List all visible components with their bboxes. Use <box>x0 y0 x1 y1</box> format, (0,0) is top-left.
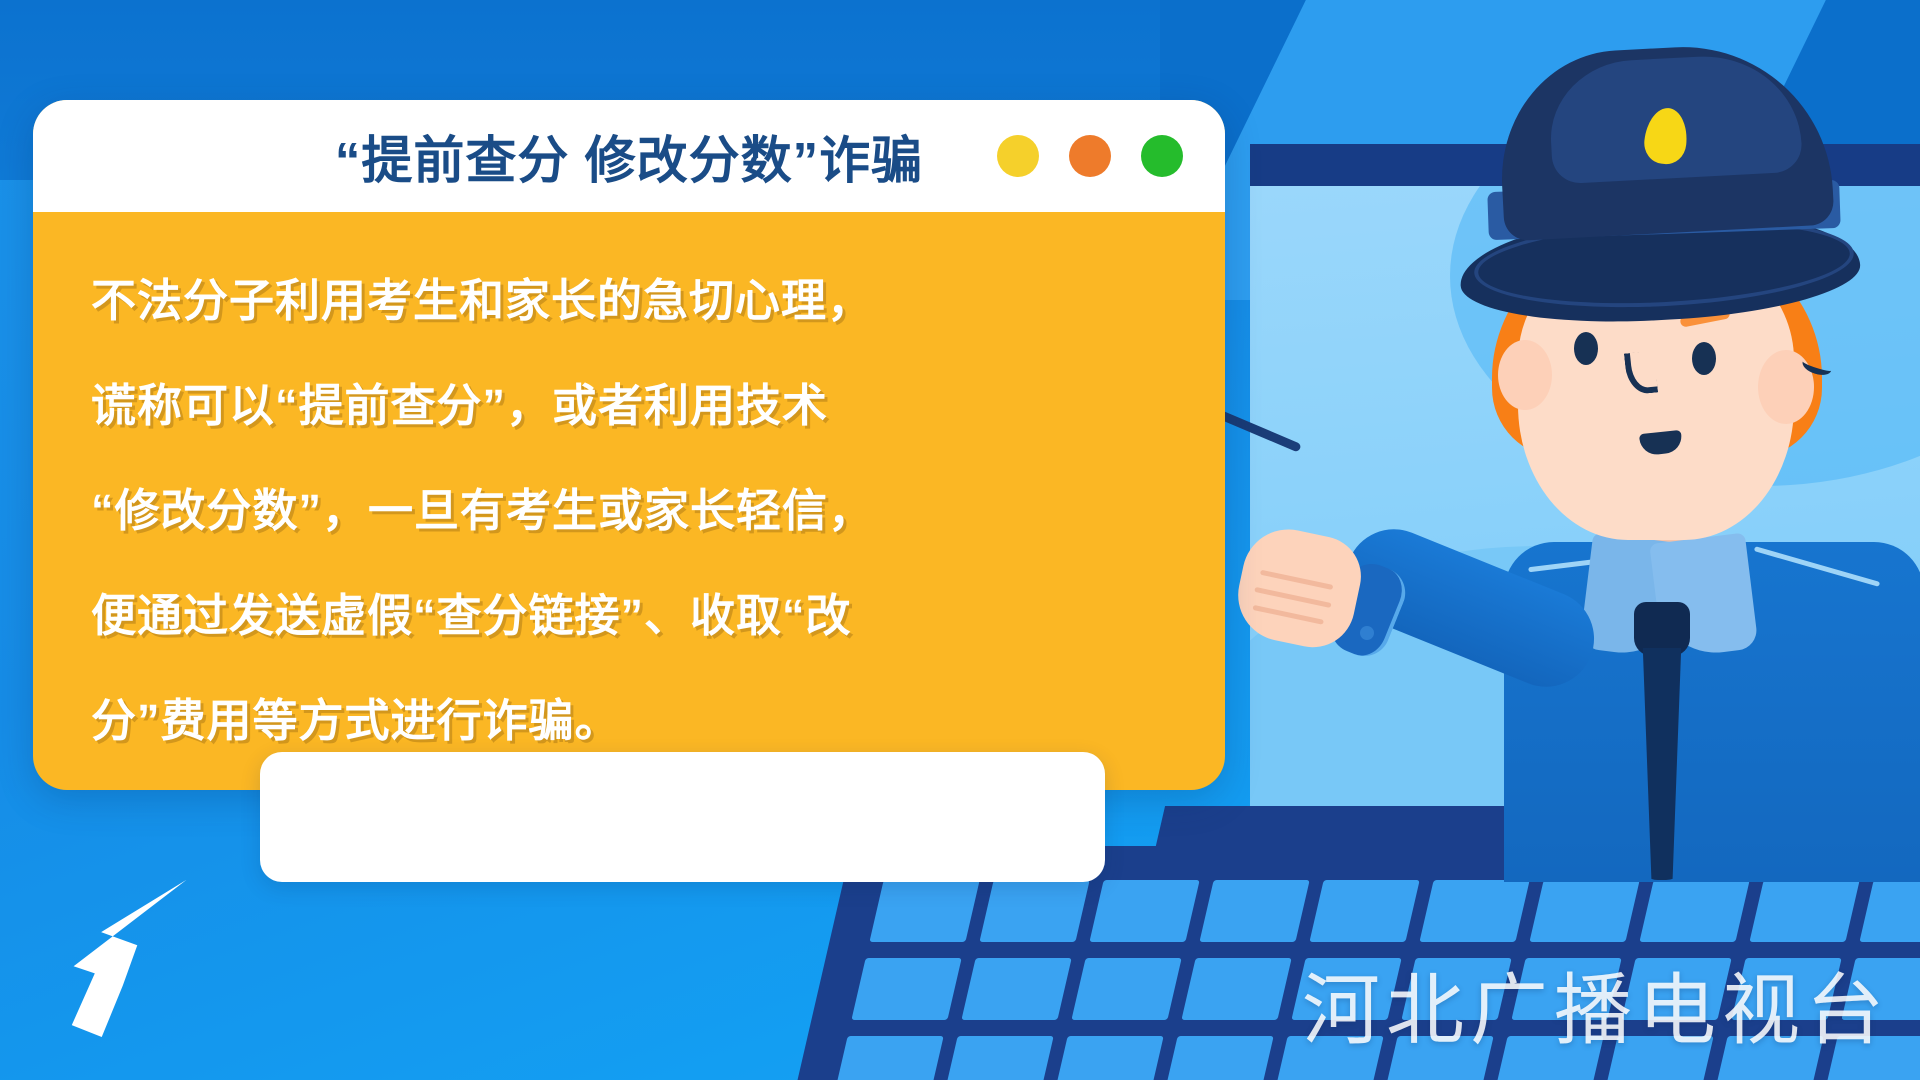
officer-eye-left <box>1574 332 1598 365</box>
keyboard-key <box>1053 1036 1163 1080</box>
finger-line-3 <box>1252 605 1323 625</box>
keyboard-key <box>1419 880 1529 942</box>
card-body: 不法分子利用考生和家长的急切心理，谎称可以“提前查分”，或者利用技术“修改分数”… <box>33 212 1225 790</box>
card-body-line: 便通过发送虚假“查分链接”、收取“改 <box>91 563 1167 668</box>
officer-cuff-button <box>1360 626 1374 640</box>
finger-line-2 <box>1254 587 1331 608</box>
keyboard-key <box>961 958 1071 1020</box>
card-body-line: 谎称可以“提前查分”，或者利用技术 <box>91 353 1167 458</box>
close-dot[interactable] <box>1141 135 1183 177</box>
maximize-dot[interactable] <box>1069 135 1111 177</box>
card-body-line: 不法分子利用考生和家长的急切心理， <box>91 248 1167 353</box>
keyboard-key <box>1749 880 1859 942</box>
keyboard-key <box>833 1036 943 1080</box>
keyboard-key <box>1529 880 1639 942</box>
keyboard-key <box>979 880 1089 942</box>
finger-line-1 <box>1260 570 1333 590</box>
officer-tie-knot <box>1634 602 1690 656</box>
poster-canvas: “提前查分 修改分数”诈骗 不法分子利用考生和家长的急切心理，谎称可以“提前查分… <box>0 0 1920 1080</box>
card-header: “提前查分 修改分数”诈骗 <box>33 100 1225 212</box>
keyboard-key <box>1639 880 1749 942</box>
keyboard-key <box>869 880 979 942</box>
card-body-line: “修改分数”，一旦有考生或家长轻信， <box>91 458 1167 563</box>
broadcaster-watermark: 河北广播电视台 <box>1302 948 1890 1060</box>
arrow-cursor-icon <box>48 880 218 1050</box>
caption-placeholder-box <box>260 752 1105 882</box>
keyboard-key <box>1859 880 1920 942</box>
keyboard-key <box>851 958 961 1020</box>
info-card: “提前查分 修改分数”诈骗 不法分子利用考生和家长的急切心理，谎称可以“提前查分… <box>33 100 1225 790</box>
keyboard-key <box>1163 1036 1273 1080</box>
keyboard-key <box>943 1036 1053 1080</box>
officer-eye-right <box>1692 342 1716 375</box>
keyboard-key <box>1181 958 1291 1020</box>
keyboard-key <box>1071 958 1181 1020</box>
keyboard-key <box>1089 880 1199 942</box>
keyboard-key <box>1309 880 1419 942</box>
police-officer-character <box>1400 40 1920 880</box>
keyboard-key <box>1199 880 1309 942</box>
minimize-dot[interactable] <box>997 135 1039 177</box>
officer-ear-left <box>1498 340 1552 410</box>
window-controls[interactable] <box>997 135 1183 177</box>
